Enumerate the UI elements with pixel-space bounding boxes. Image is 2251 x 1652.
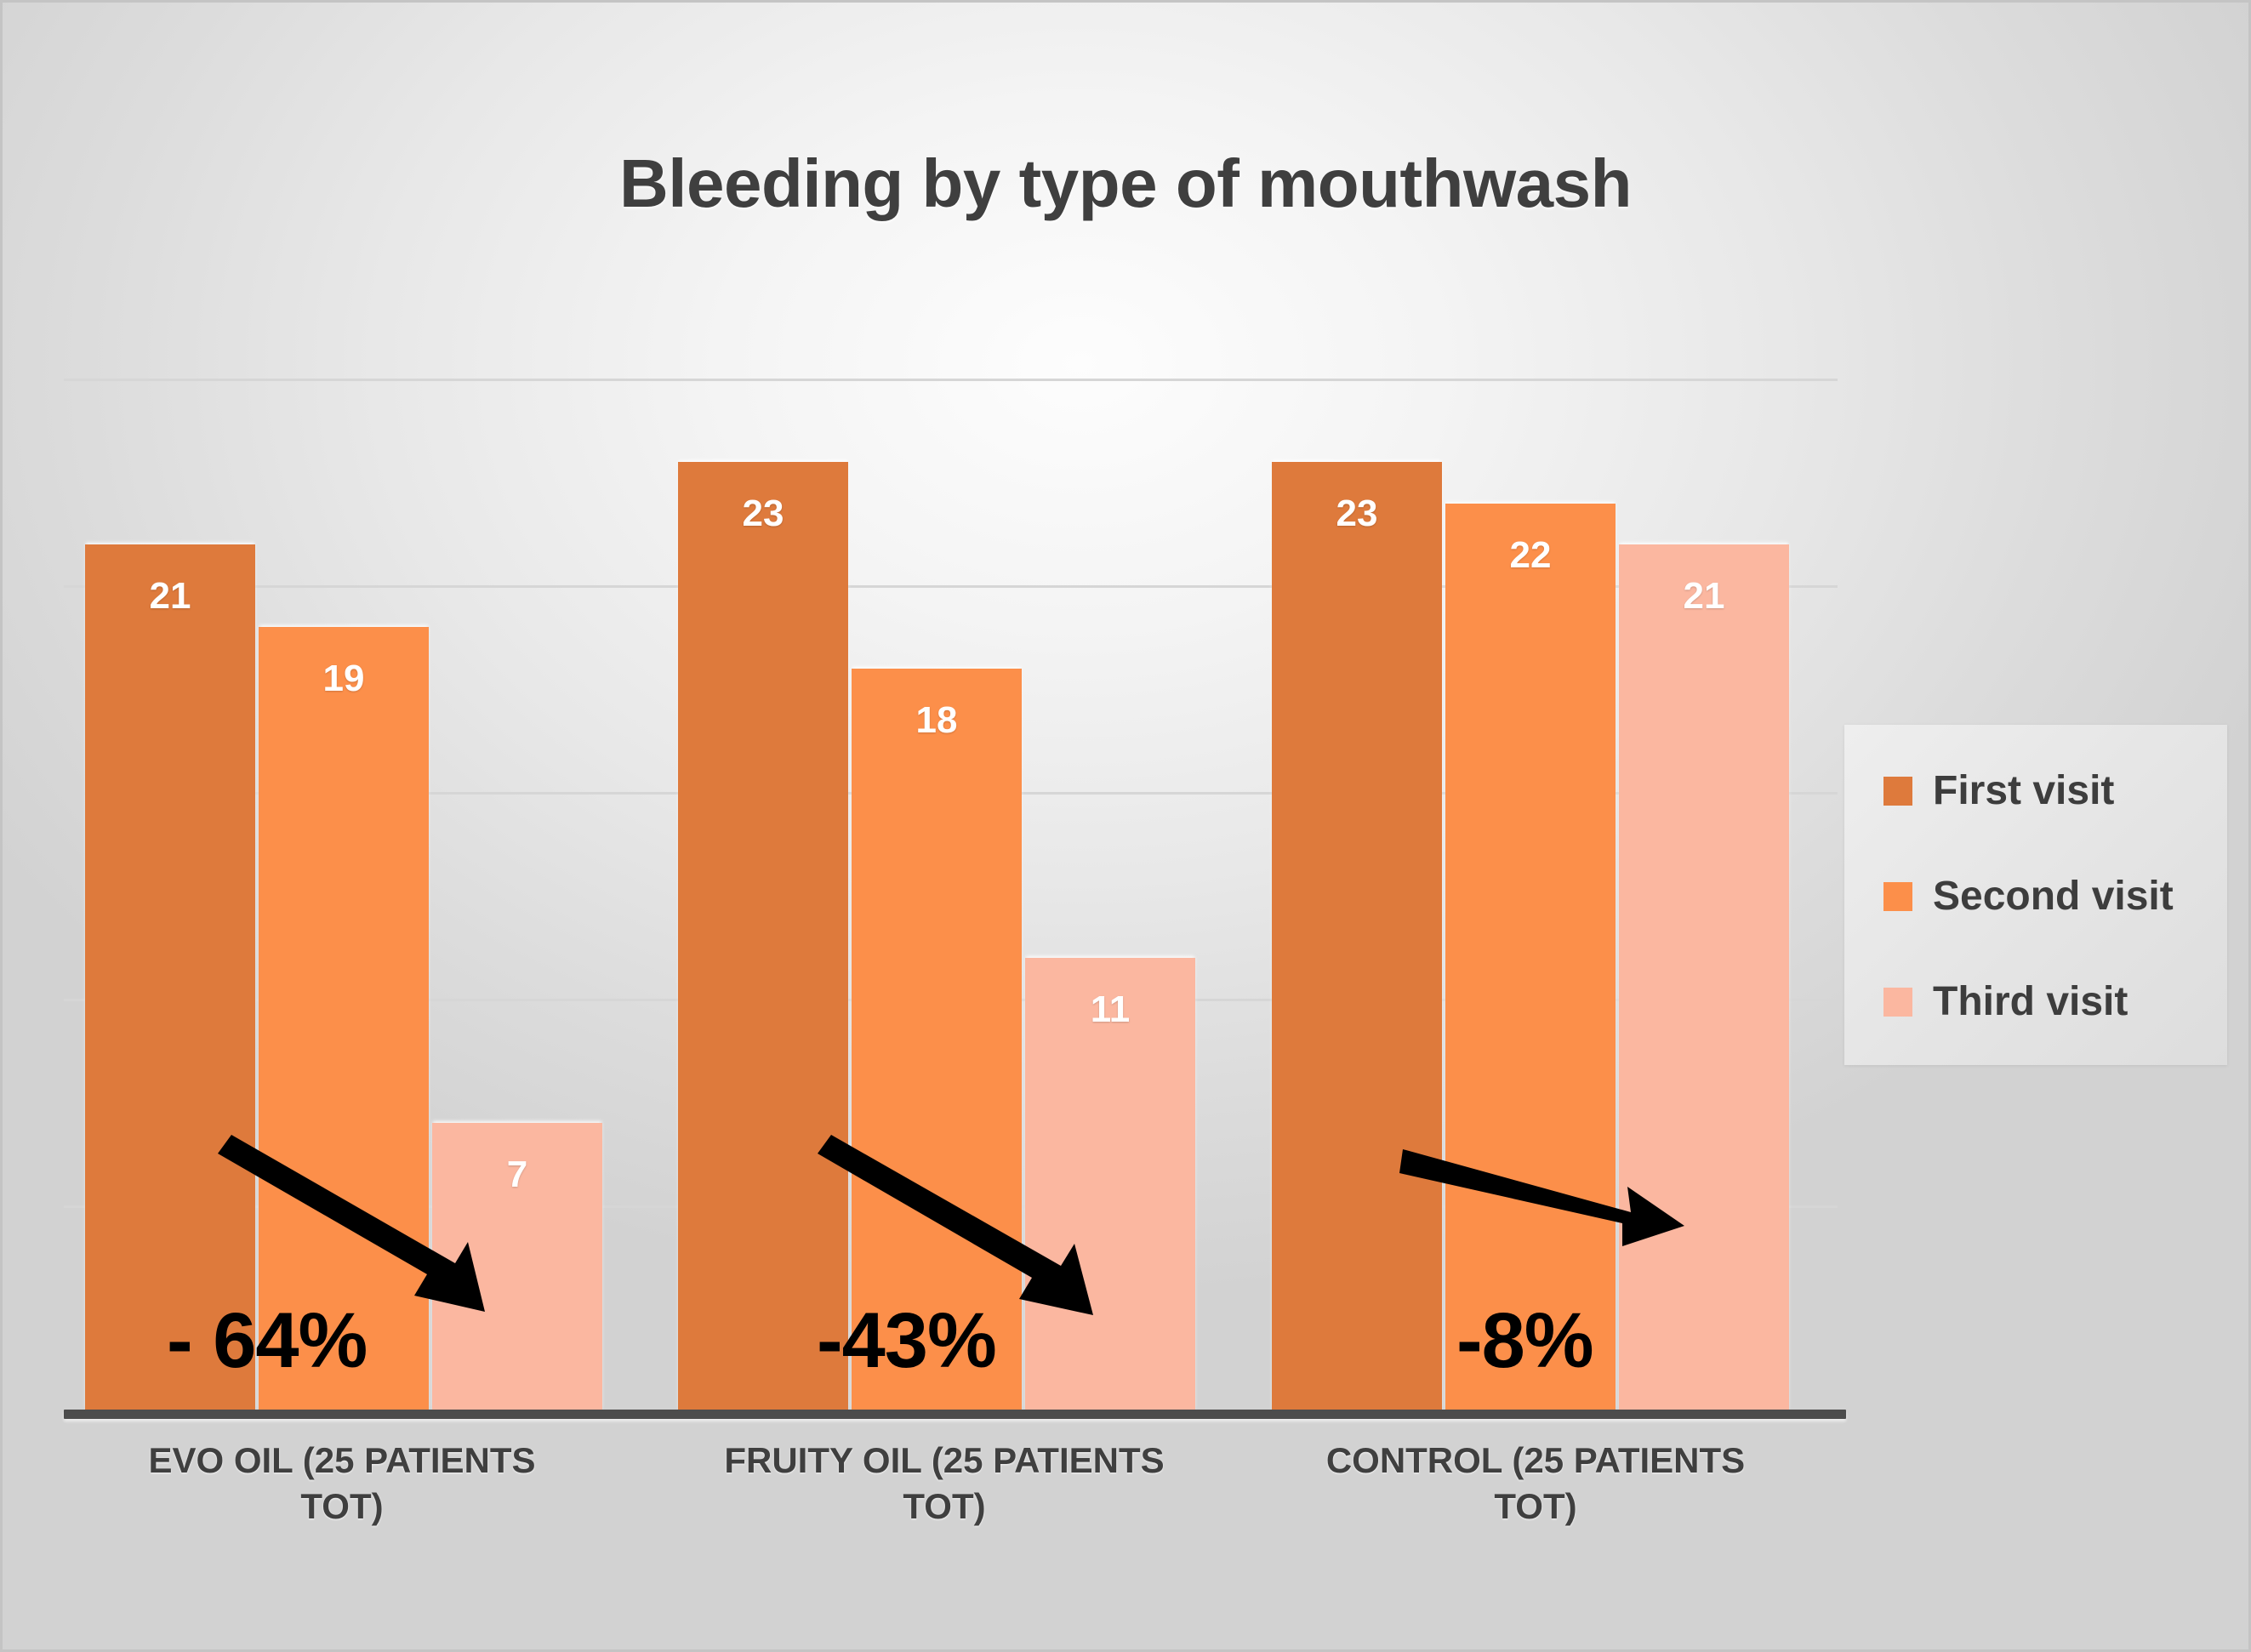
x-axis-line: [64, 1410, 1846, 1419]
legend: First visit Second visit Third visit: [1844, 725, 2227, 1065]
annotation-evo-percent: - 64%: [167, 1296, 367, 1386]
bar-value-label: 23: [678, 493, 848, 535]
bar-value-label: 21: [1619, 575, 1789, 618]
right-arrow-icon-control: [1399, 1144, 1689, 1255]
xaxis-label-control: CONTROL (25 PATIENTS TOT): [1242, 1438, 1829, 1530]
legend-item-second-visit[interactable]: Second visit: [1883, 873, 2174, 920]
annotation-control-percent: -8%: [1456, 1296, 1593, 1386]
xaxis-label-line1: CONTROL (25 PATIENTS: [1242, 1438, 1829, 1484]
chart-title: Bleeding by type of mouthwash: [0, 145, 2251, 223]
bar-control-second-visit[interactable]: 22: [1445, 504, 1616, 1412]
legend-item-label: Third visit: [1933, 978, 2128, 1025]
annotation-fruity-percent: -43%: [817, 1296, 996, 1386]
bar-value-label: 23: [1272, 493, 1442, 535]
legend-swatch-icon: [1883, 777, 1912, 806]
xaxis-label-line2: TOT): [647, 1484, 1242, 1530]
xaxis-label-line1: FRUITY OIL (25 PATIENTS: [647, 1438, 1242, 1484]
bar-control-first-visit[interactable]: 23: [1272, 462, 1442, 1412]
bar-value-label: 11: [1025, 988, 1195, 1031]
legend-item-label: First visit: [1933, 767, 2114, 814]
legend-swatch-icon: [1883, 988, 1912, 1017]
xaxis-label-line2: TOT): [1242, 1484, 1829, 1530]
bar-value-label: 22: [1445, 534, 1616, 577]
chart-canvas: Bleeding by type of mouthwash 21 19 7 23: [0, 0, 2251, 1652]
xaxis-label-fruity-oil: FRUITY OIL (25 PATIENTS TOT): [647, 1438, 1242, 1530]
bar-value-label: 18: [852, 699, 1022, 742]
legend-item-third-visit[interactable]: Third visit: [1883, 978, 2128, 1025]
xaxis-label-evo-oil: EVO OIL (25 PATIENTS TOT): [53, 1438, 631, 1530]
legend-item-label: Second visit: [1933, 873, 2174, 920]
xaxis-label-line2: TOT): [53, 1484, 631, 1530]
legend-swatch-icon: [1883, 882, 1912, 911]
legend-item-first-visit[interactable]: First visit: [1883, 767, 2114, 814]
xaxis-label-line1: EVO OIL (25 PATIENTS: [53, 1438, 631, 1484]
bar-value-label: 19: [259, 658, 429, 700]
bar-control-third-visit[interactable]: 21: [1619, 544, 1789, 1412]
bar-value-label: 21: [85, 575, 255, 618]
